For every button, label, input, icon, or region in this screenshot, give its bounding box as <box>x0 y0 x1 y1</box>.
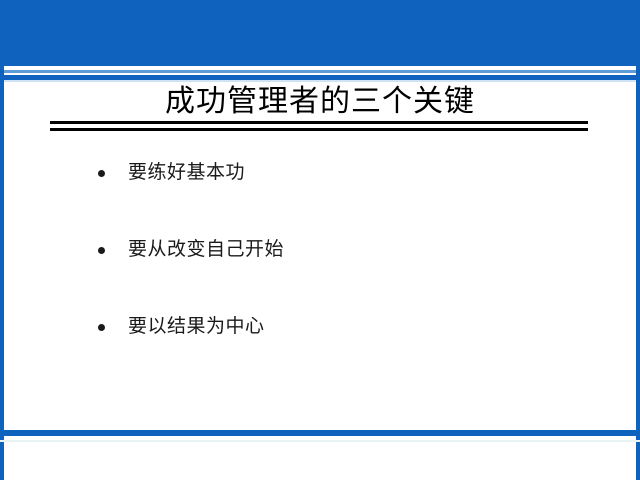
bullet-dot-icon <box>98 170 105 177</box>
header-band <box>0 0 640 66</box>
slide-title-block: 成功管理者的三个关键 <box>0 84 640 120</box>
title-rule-upper <box>50 121 588 124</box>
list-item: 要以结果为中心 <box>0 309 640 386</box>
bullet-list: 要练好基本功 要从改变自己开始 要以结果为中心 <box>0 155 640 386</box>
footer-accent-rule <box>0 430 640 436</box>
bullet-text: 要以结果为中心 <box>128 312 265 340</box>
bullet-dot-icon <box>98 324 105 331</box>
header-hairline <box>0 80 640 82</box>
bullet-text: 要练好基本功 <box>128 158 245 186</box>
slide-title: 成功管理者的三个关键 <box>0 84 640 120</box>
title-double-rule <box>50 121 588 132</box>
list-item: 要从改变自己开始 <box>0 232 640 309</box>
slide-canvas: 成功管理者的三个关键 要练好基本功 要从改变自己开始 要以结果为中心 <box>0 0 640 480</box>
bullet-dot-icon <box>98 247 105 254</box>
footer-hairline <box>0 440 640 442</box>
list-item: 要练好基本功 <box>0 155 640 232</box>
bullet-text: 要从改变自己开始 <box>128 235 284 263</box>
title-rule-lower <box>50 128 588 131</box>
